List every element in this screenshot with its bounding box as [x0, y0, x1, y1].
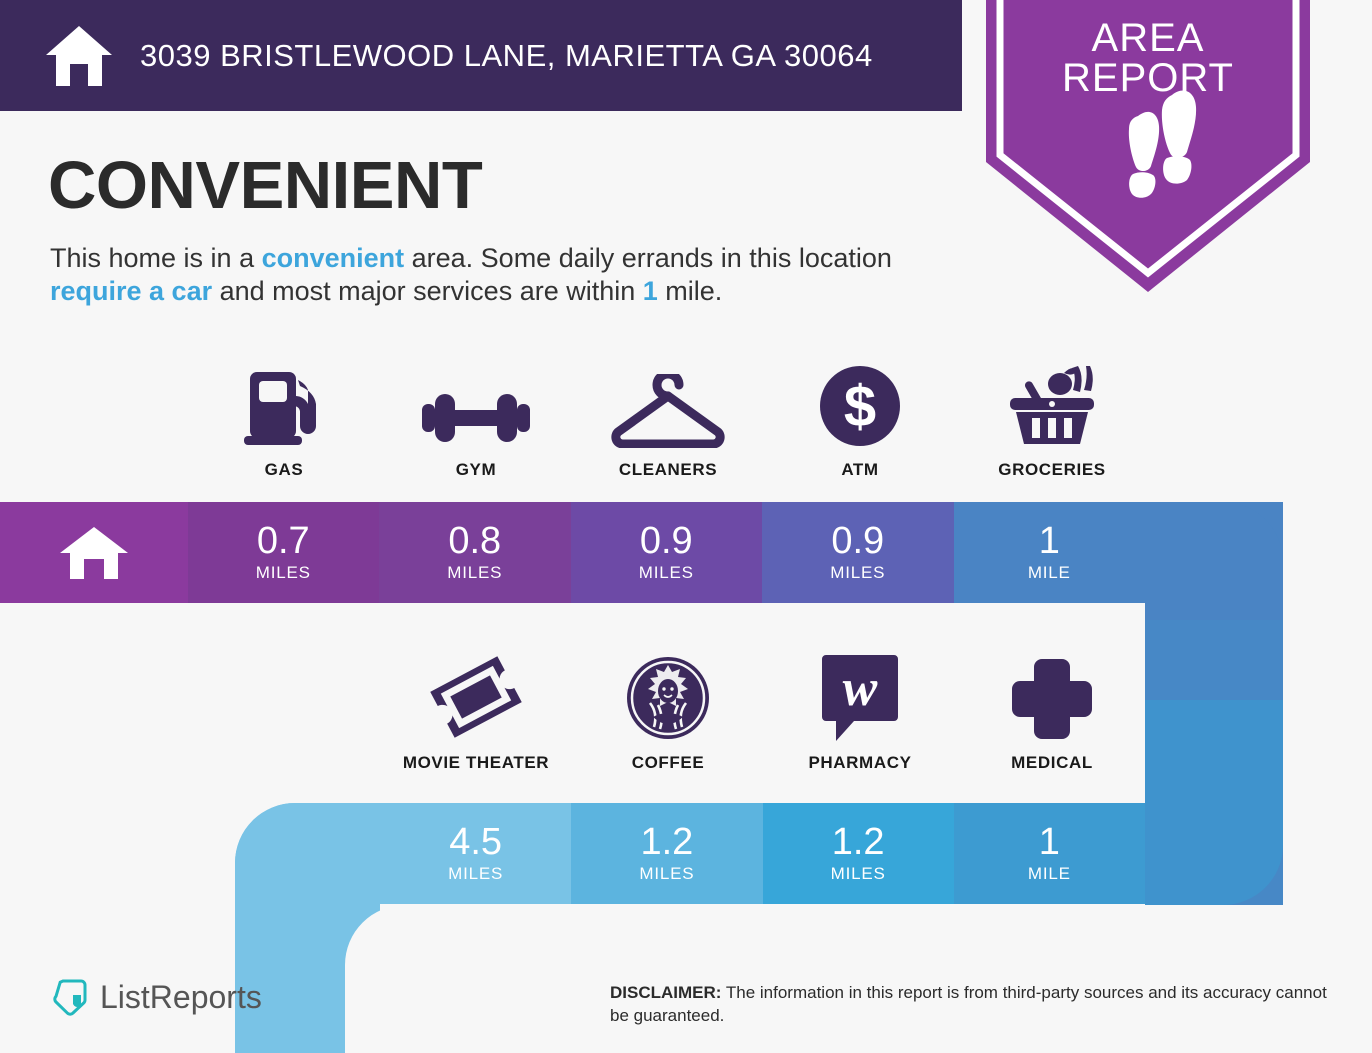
disclaimer: DISCLAIMER: The information in this repo…: [610, 981, 1330, 1027]
listreports-house-tag-icon: [52, 978, 88, 1016]
disclaimer-label: DISCLAIMER:: [610, 983, 721, 1002]
logo-text: ListReports: [100, 979, 262, 1016]
badge-line-1: AREA: [986, 18, 1310, 58]
area-report-badge: AREA REPORT: [986, 0, 1310, 292]
listreports-logo: ListReports: [52, 978, 262, 1016]
badge-line-2: REPORT: [986, 58, 1310, 98]
badge-text: AREA REPORT: [986, 18, 1310, 98]
